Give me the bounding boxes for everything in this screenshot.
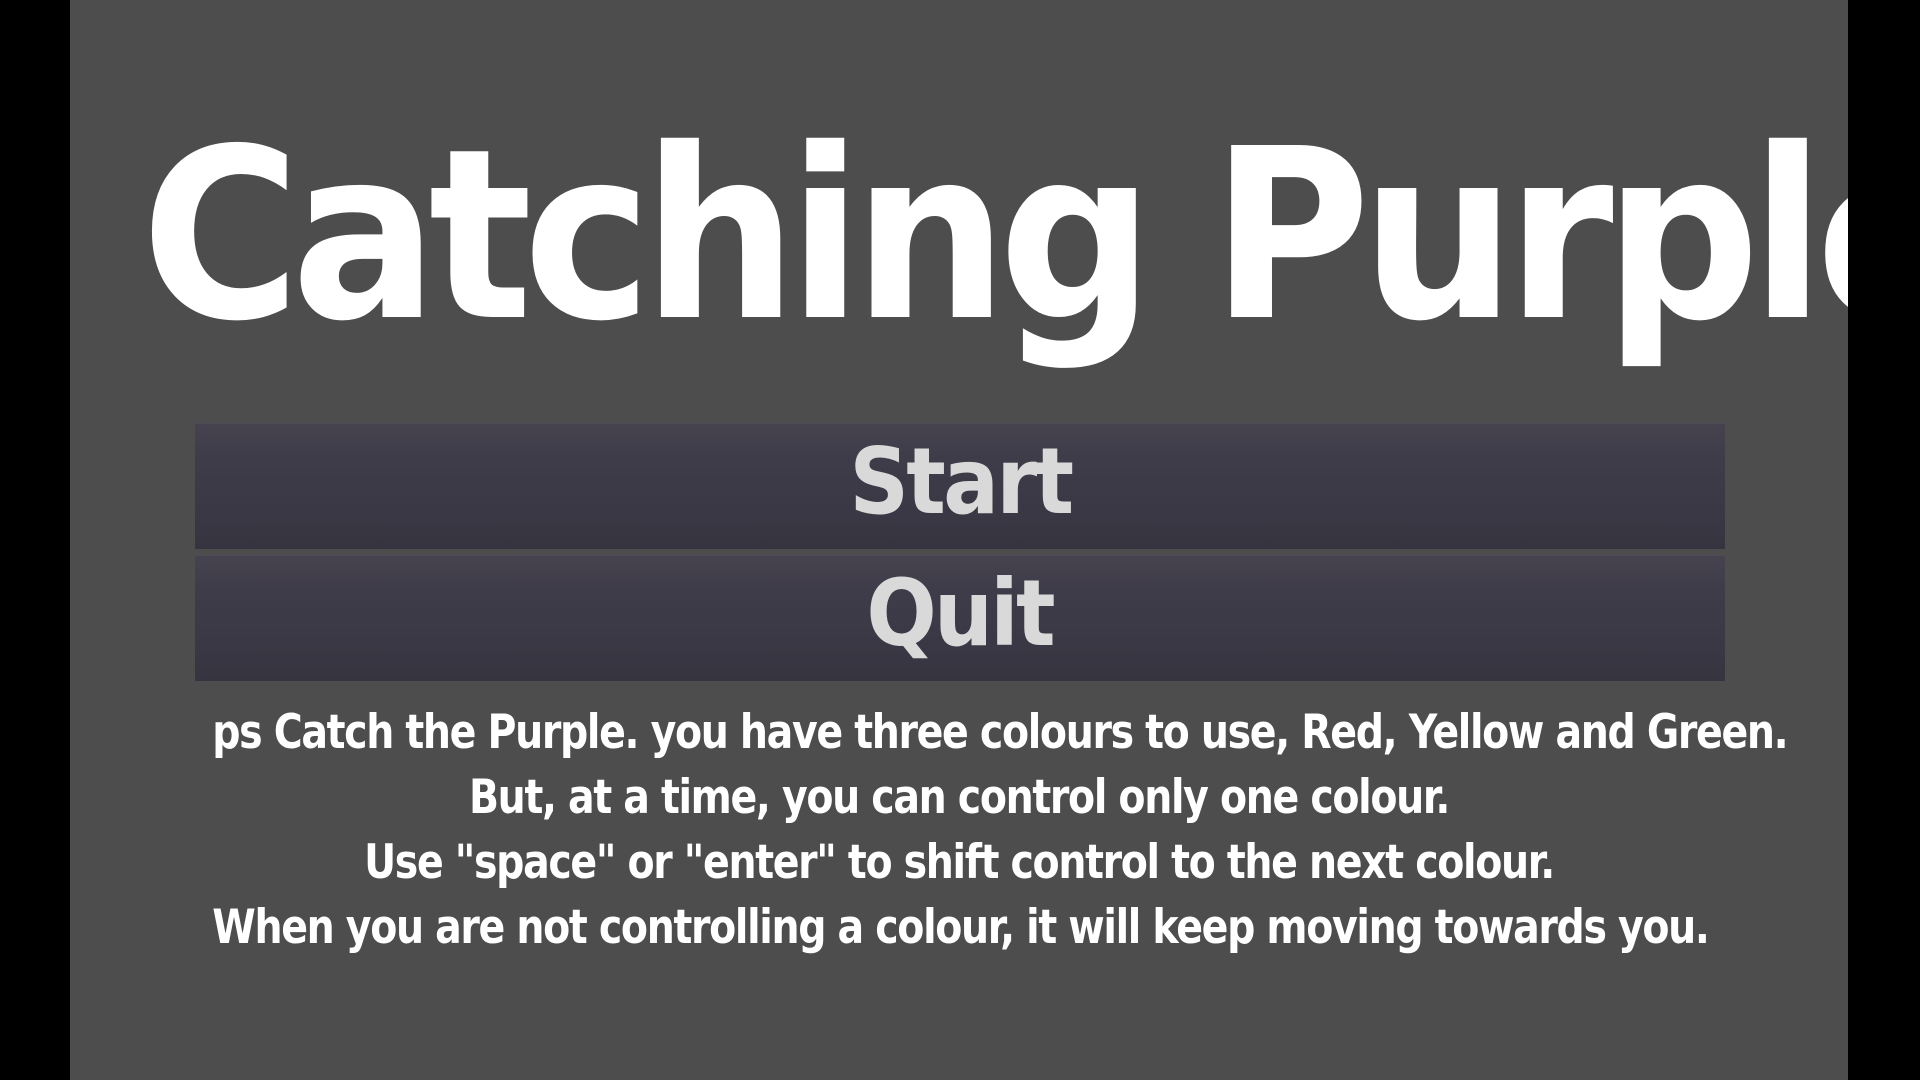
instruction-line-1: ps Catch the Purple. you have three colo…: [212, 700, 1706, 765]
game-window: Catching Purple Start Quit ps Catch the …: [0, 0, 1920, 1080]
main-menu-button-group: Start Quit: [195, 423, 1725, 681]
main-menu-screen: Catching Purple Start Quit ps Catch the …: [70, 0, 1848, 1080]
quit-button-label: Quit: [867, 568, 1053, 660]
instructions-block: ps Catch the Purple. you have three colo…: [70, 700, 1848, 960]
instruction-line-3: Use "space" or "enter" to shift control …: [212, 830, 1706, 895]
letterbox-bar-left: [0, 0, 70, 1080]
game-title: Catching Purple: [141, 118, 1777, 354]
letterbox-bar-right: [1848, 0, 1920, 1080]
start-button-label: Start: [849, 436, 1071, 528]
instruction-line-2: But, at a time, you can control only one…: [212, 765, 1706, 830]
quit-button[interactable]: Quit: [195, 555, 1725, 681]
instruction-line-4: When you are not controlling a colour, i…: [212, 895, 1706, 960]
start-button[interactable]: Start: [195, 423, 1725, 549]
